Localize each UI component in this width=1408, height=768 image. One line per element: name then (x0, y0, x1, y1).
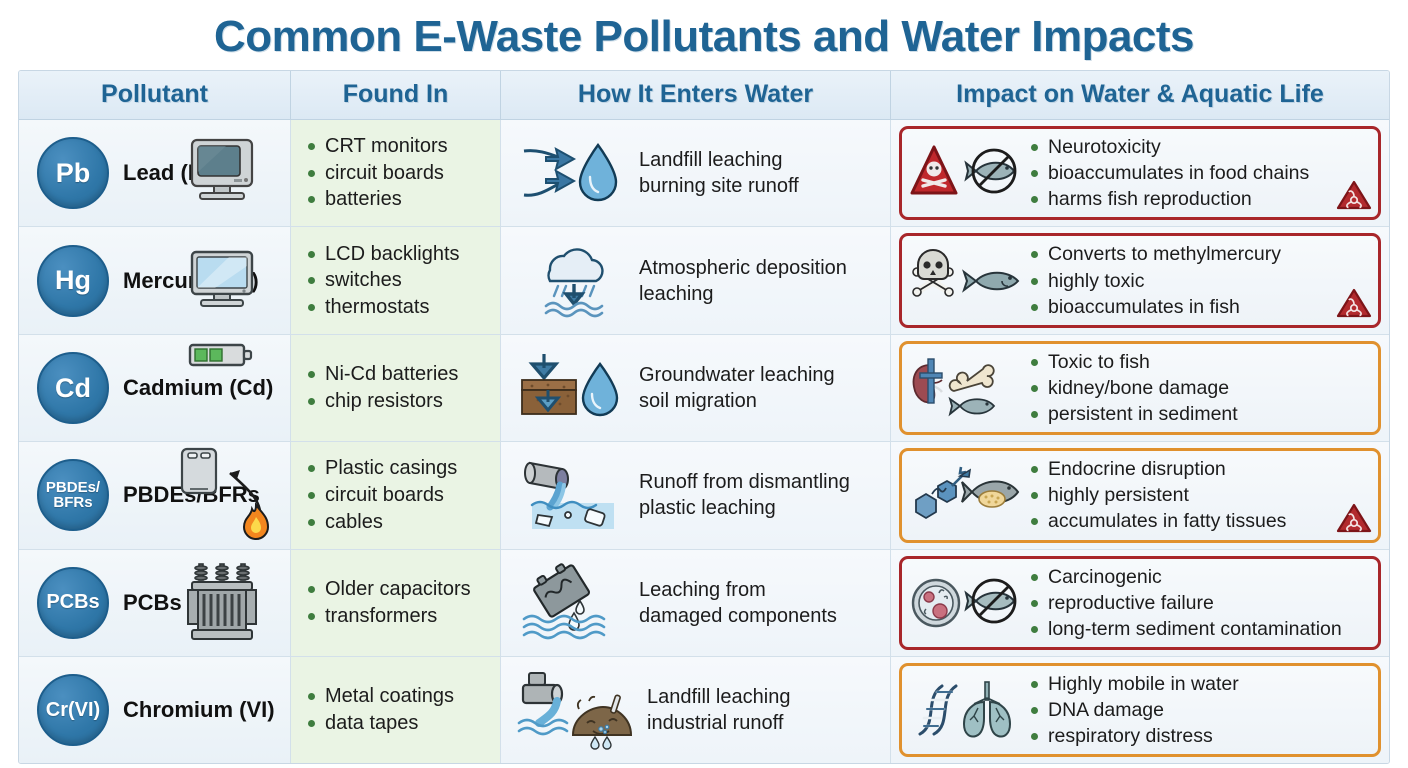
pollutant-cell: PBDEs/BFRs PBDEs/BFRs (19, 442, 291, 548)
pollutant-cell: Cd Cadmium (Cd) (19, 335, 291, 441)
biohazard-triangle-icon (1336, 287, 1372, 319)
list-item: respiratory distress (1028, 723, 1239, 749)
pollutant-name: Mercury (Hg) (123, 268, 259, 294)
impact-cell: Toxic to fish kidney/bone damage persist… (891, 335, 1389, 441)
impact-box-high-toxicity: Converts to methylmercury highly toxic b… (899, 233, 1381, 327)
soil-infiltration-waterdrop-icon (515, 346, 633, 430)
impact-list: Endocrine disruption highly persistent a… (1028, 456, 1286, 534)
pollutant-name: Chromium (VI) (123, 697, 275, 723)
found-in-list: Metal coatings data tapes (305, 683, 454, 736)
no-fish-icon (966, 580, 1015, 622)
list-item: circuit boards (305, 160, 448, 187)
entry-path-text: Landfill leaching burning site runoff (639, 147, 799, 199)
impact-cell: Neurotoxicity bioaccumulates in food cha… (891, 120, 1389, 226)
pollutant-name: Cadmium (Cd) (123, 375, 273, 401)
found-in-cell: Older capacitors transformers (291, 550, 501, 656)
impact-list: Carcinogenic reproductive failure long-t… (1028, 564, 1342, 642)
arrows-to-waterdrop-icon (515, 131, 633, 215)
impact-icons (908, 568, 1028, 638)
fish-icon (964, 272, 1018, 290)
list-item: CRT monitors (305, 133, 448, 160)
pipe-runoff-plastic-icon (515, 453, 633, 537)
pollutants-table: Pollutant Found In How It Enters Water I… (18, 70, 1390, 764)
entry-path-cell: Leaching from damaged components (501, 550, 891, 656)
impact-list: Toxic to fish kidney/bone damage persist… (1028, 349, 1238, 427)
table-row: Cd Cadmium (Cd) Ni-Cd batteries chip res… (19, 335, 1389, 442)
cancer-cell-icon (913, 580, 959, 626)
impact-icons (908, 353, 1028, 423)
table-row: PBDEs/BFRs PBDEs/BFRs (19, 442, 1389, 549)
flame-icon (244, 505, 268, 539)
list-item: data tapes (305, 710, 454, 737)
table-header-row: Pollutant Found In How It Enters Water I… (19, 71, 1389, 120)
list-item: Toxic to fish (1028, 349, 1238, 375)
list-item: highly toxic (1028, 268, 1281, 294)
legend: Red Border: Highly Toxic, Orange Border:… (0, 764, 1408, 768)
column-header-pollutant: Pollutant (19, 71, 291, 119)
column-header-how-it-enters-water: How It Enters Water (501, 71, 891, 119)
found-in-cell: Plastic casings circuit boards cables (291, 442, 501, 548)
entry-path-text: Groundwater leaching soil migration (639, 362, 835, 414)
pollutant-cell: Pb Lead (Pb) (19, 120, 291, 226)
impact-cell: Endocrine disruption highly persistent a… (891, 442, 1389, 548)
impact-box-high-toxicity: Neurotoxicity bioaccumulates in food cha… (899, 126, 1381, 220)
infographic-page: Common E-Waste Pollutants and Water Impa… (0, 0, 1408, 768)
list-item: highly persistent (1028, 482, 1286, 508)
pollutant-name: PBDEs/BFRs (123, 482, 260, 508)
found-in-cell: Metal coatings data tapes (291, 657, 501, 763)
impact-icons (908, 460, 1028, 530)
list-item: persistent in sediment (1028, 401, 1238, 427)
pollutant-badge: PCBs (37, 567, 109, 639)
found-in-list: CRT monitors circuit boards batteries (305, 133, 448, 213)
column-header-impact: Impact on Water & Aquatic Life (891, 71, 1389, 119)
list-item: Older capacitors (305, 576, 471, 603)
table-row: Hg Mercury (Hg) LCD backlights (19, 227, 1389, 334)
list-item: harms fish reproduction (1028, 186, 1309, 212)
pollutant-cell: Hg Mercury (Hg) (19, 227, 291, 333)
list-item: Ni-Cd batteries (305, 361, 458, 388)
impact-cell: Highly mobile in water DNA damage respir… (891, 657, 1389, 763)
list-item: reproductive failure (1028, 590, 1342, 616)
impact-list: Neurotoxicity bioaccumulates in food cha… (1028, 134, 1309, 212)
impact-box-moderate-toxicity: Toxic to fish kidney/bone damage persist… (899, 341, 1381, 435)
entry-path-cell: Groundwater leaching soil migration (501, 335, 891, 441)
biohazard-triangle-icon (1336, 502, 1372, 534)
found-in-cell: LCD backlights switches thermostats (291, 227, 501, 333)
impact-list: Highly mobile in water DNA damage respir… (1028, 671, 1239, 749)
entry-path-text: Landfill leaching industrial runoff (647, 684, 790, 736)
fish-fatty-tissue-icon (962, 482, 1018, 508)
found-in-cell: Ni-Cd batteries chip resistors (291, 335, 501, 441)
list-item: thermostats (305, 294, 460, 321)
dna-helix-icon (920, 686, 956, 734)
impact-cell: Carcinogenic reproductive failure long-t… (891, 550, 1389, 656)
table-row: Cr(VI) Chromium (VI) Metal coatings data… (19, 657, 1389, 763)
no-fish-icon (966, 150, 1015, 192)
transformer-icon (168, 550, 276, 656)
list-item: circuit boards (305, 482, 457, 509)
entry-path-cell: Landfill leaching industrial runoff (501, 657, 891, 763)
pollutant-cell: Cr(VI) Chromium (VI) (19, 657, 291, 763)
impact-icons (908, 138, 1028, 208)
impact-icons (908, 246, 1028, 316)
column-header-found-in: Found In (291, 71, 501, 119)
found-in-list: Older capacitors transformers (305, 576, 471, 629)
list-item: Highly mobile in water (1028, 671, 1239, 697)
pollutant-name: PCBs (123, 590, 182, 616)
found-in-cell: CRT monitors circuit boards batteries (291, 120, 501, 226)
page-title: Common E-Waste Pollutants and Water Impa… (0, 0, 1408, 70)
table-row: Pb Lead (Pb) CRT monitors (19, 120, 1389, 227)
impact-box-high-toxicity: Carcinogenic reproductive failure long-t… (899, 556, 1381, 650)
chemical-structure-icon (916, 467, 970, 518)
pollutant-badge-line2: BFRs (53, 494, 92, 511)
skull-crossbones-icon (913, 250, 953, 296)
list-item: Neurotoxicity (1028, 134, 1309, 160)
biohazard-triangle-icon (1336, 179, 1372, 211)
list-item: long-term sediment contamination (1028, 616, 1342, 642)
pollutant-badge: Pb (37, 137, 109, 209)
pollutant-badge: PBDEs/BFRs (37, 459, 109, 531)
rain-cloud-to-water-icon (515, 239, 633, 323)
list-item: Plastic casings (305, 455, 457, 482)
pollutant-badge: Cd (37, 352, 109, 424)
bone-icon (950, 365, 994, 391)
list-item: DNA damage (1028, 697, 1239, 723)
list-item: accumulates in fatty tissues (1028, 508, 1286, 534)
list-item: kidney/bone damage (1028, 375, 1238, 401)
entry-path-cell: Atmospheric deposition leaching (501, 227, 891, 333)
pollutant-cell: PCBs PCBs (19, 550, 291, 656)
found-in-list: Plastic casings circuit boards cables (305, 455, 457, 535)
entry-path-text: Runoff from dismantling plastic leaching (639, 469, 850, 521)
list-item: cables (305, 509, 457, 536)
list-item: bioaccumulates in food chains (1028, 160, 1309, 186)
entry-path-text: Atmospheric deposition leaching (639, 255, 847, 307)
found-in-list: LCD backlights switches thermostats (305, 241, 460, 321)
impact-list: Converts to methylmercury highly toxic b… (1028, 241, 1281, 319)
pollutant-badge-line1: PBDEs/ (46, 479, 100, 496)
poison-triangle-icon (912, 147, 956, 193)
list-item: chip resistors (305, 388, 458, 415)
pollutant-name: Lead (Pb) (123, 160, 223, 186)
list-item: bioaccumulates in fish (1028, 294, 1281, 320)
fish-icon (950, 399, 994, 414)
list-item: LCD backlights (305, 241, 460, 268)
lungs-icon (964, 682, 1010, 737)
list-item: Carcinogenic (1028, 564, 1342, 590)
impact-box-moderate-toxicity: Endocrine disruption highly persistent a… (899, 448, 1381, 542)
pipe-discharge-waste-pile-icon (515, 668, 647, 752)
leaking-capacitor-water-icon (515, 561, 633, 645)
table-row: PCBs PCBs (19, 550, 1389, 657)
list-item: switches (305, 267, 460, 294)
impact-cell: Converts to methylmercury highly toxic b… (891, 227, 1389, 333)
list-item: Endocrine disruption (1028, 456, 1286, 482)
list-item: transformers (305, 603, 471, 630)
impact-icons (908, 675, 1028, 745)
list-item: Metal coatings (305, 683, 454, 710)
pollutant-badge: Hg (37, 245, 109, 317)
impact-box-moderate-toxicity: Highly mobile in water DNA damage respir… (899, 663, 1381, 757)
entry-path-cell: Runoff from dismantling plastic leaching (501, 442, 891, 548)
list-item: batteries (305, 186, 448, 213)
pollutant-badge: Cr(VI) (37, 674, 109, 746)
found-in-list: Ni-Cd batteries chip resistors (305, 361, 458, 414)
entry-path-text: Leaching from damaged components (639, 577, 837, 629)
list-item: Converts to methylmercury (1028, 241, 1281, 267)
entry-path-cell: Landfill leaching burning site runoff (501, 120, 891, 226)
